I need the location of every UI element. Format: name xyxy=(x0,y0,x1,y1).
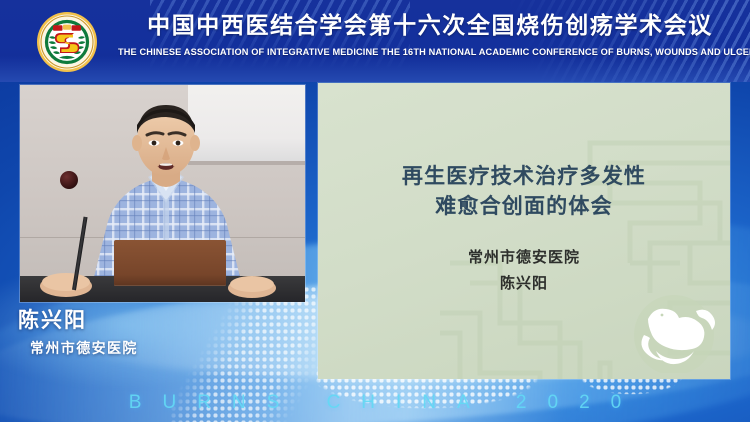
conference-header-band: 中国中西医结合学会第十六次全国烧伤创疡学术会议 THE CHINESE ASSO… xyxy=(0,0,750,82)
event-wordmark: BURNS CHINA 2020 xyxy=(0,392,750,414)
presentation-slide[interactable]: 再生医疗技术治疗多发性 难愈合创面的体会 常州市德安医院 陈兴阳 xyxy=(318,83,730,379)
slide-title-line-2: 难愈合创面的体会 xyxy=(318,191,730,221)
conference-title-en: THE CHINESE ASSOCIATION OF INTEGRATIVE M… xyxy=(118,44,742,60)
conference-title-cn: 中国中西医结合学会第十六次全国烧伤创疡学术会议 xyxy=(118,10,742,40)
association-logo-icon xyxy=(36,11,98,73)
slide-subtitle-line-1: 常州市德安医院 xyxy=(318,245,730,271)
speaker-nameplate: 陈兴阳 常州市德安医院 xyxy=(18,308,278,358)
speaker-organization: 常州市德安医院 xyxy=(30,338,278,358)
header-text-block: 中国中西医结合学会第十六次全国烧伤创疡学术会议 THE CHINESE ASSO… xyxy=(118,10,742,60)
broadcast-stage: 中国中西医结合学会第十六次全国烧伤创疡学术会议 THE CHINESE ASSO… xyxy=(0,0,750,422)
slide-subtitle: 常州市德安医院 陈兴阳 xyxy=(318,245,730,297)
slide-title: 再生医疗技术治疗多发性 难愈合创面的体会 xyxy=(318,161,730,221)
chinese-dragon-motif-icon xyxy=(626,291,722,373)
slide-subtitle-line-2: 陈兴阳 xyxy=(318,271,730,297)
speaker-name: 陈兴阳 xyxy=(18,308,278,333)
video-hands xyxy=(20,256,305,302)
speaker-video-feed[interactable] xyxy=(20,85,305,302)
slide-title-line-1: 再生医疗技术治疗多发性 xyxy=(318,161,730,191)
video-microphone-head xyxy=(60,171,78,189)
